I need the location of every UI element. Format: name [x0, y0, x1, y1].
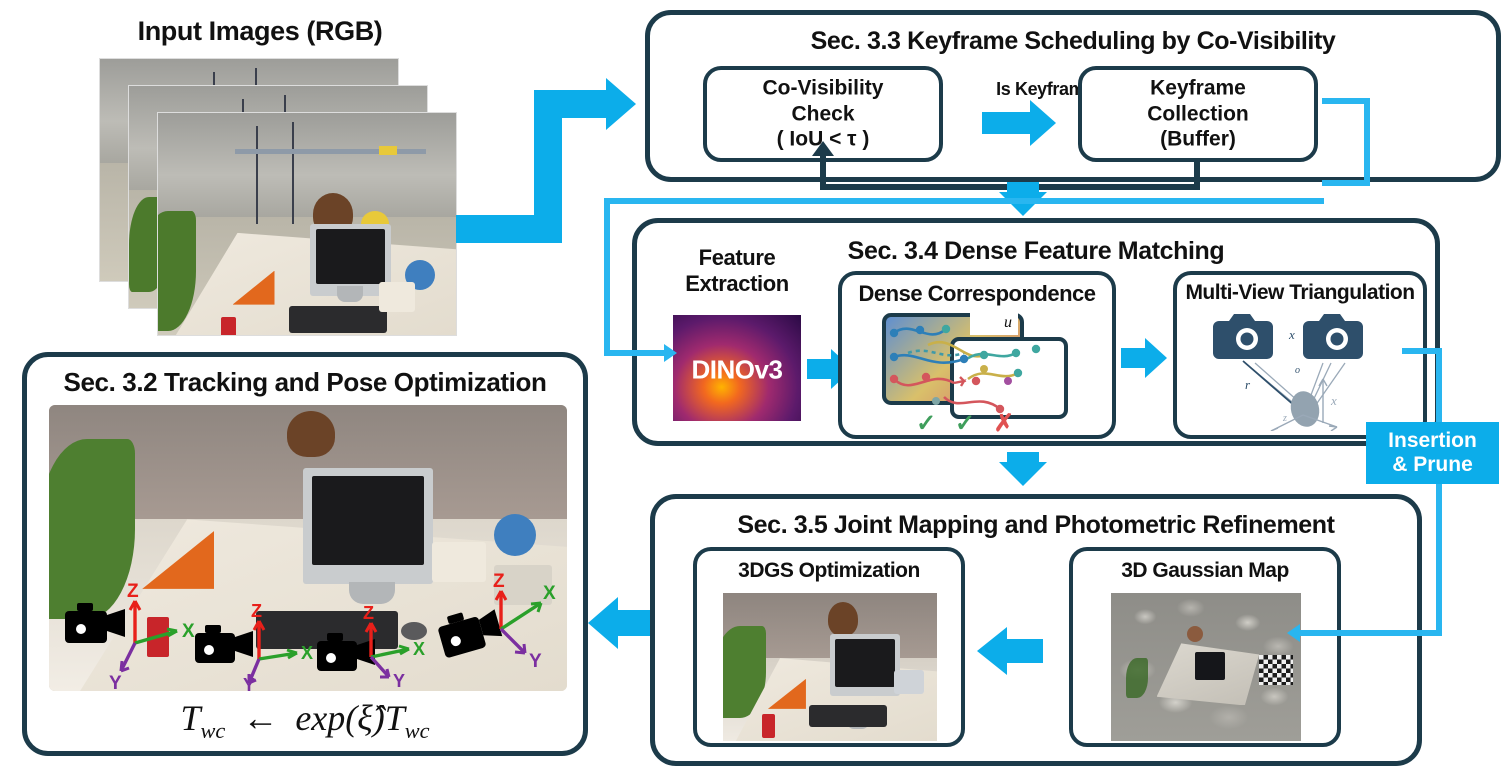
- triangulation-title: Multi-View Triangulation: [1177, 281, 1423, 305]
- tri-symbol-x1: x: [1288, 327, 1295, 342]
- camera-pose-2: Z X Y: [195, 601, 313, 691]
- dense-correspondence-title: Dense Correspondence: [842, 281, 1112, 307]
- box-multiview-triangulation[interactable]: Multi-View Triangulation: [1173, 271, 1427, 439]
- tri-symbol-r: r: [1245, 377, 1251, 392]
- svg-text:Z: Z: [493, 571, 505, 592]
- box-3dgs-optimization-title: 3DGS Optimization: [697, 559, 961, 583]
- box-3d-gaussian-map[interactable]: 3D Gaussian Map: [1069, 547, 1341, 747]
- feature-extraction-label: Feature Extraction: [647, 245, 827, 298]
- svg-text:Z: Z: [363, 603, 374, 623]
- arrow-sec33-to-sec34-stem: [1007, 182, 1039, 196]
- triangulation-illustration: x o r z x: [1199, 305, 1409, 431]
- gaussian-map-image: [1111, 593, 1301, 741]
- camera-pose-4-axes: Z X Y: [493, 571, 556, 672]
- svg-text:Y: Y: [529, 651, 542, 672]
- box-keyframe-collection[interactable]: Keyframe Collection (Buffer): [1078, 66, 1318, 162]
- box-dense-correspondence[interactable]: Dense Correspondence u: [838, 271, 1116, 439]
- svg-text:X: X: [182, 621, 195, 642]
- svg-text:Z: Z: [251, 601, 262, 621]
- dense-match-marks: ✓ ✓ ✗: [908, 409, 1028, 438]
- tri-symbol-x2: x: [1330, 393, 1337, 408]
- formula-arrow: ←: [234, 698, 286, 738]
- formula-close: ): [373, 698, 385, 738]
- match-check-1: ✓: [916, 410, 942, 437]
- svg-text:Y: Y: [109, 673, 122, 691]
- formula-rhs-sub: wc: [405, 718, 430, 743]
- formula-lhs-sub: wc: [201, 718, 226, 743]
- box-3dgs-optimization[interactable]: 3DGS Optimization: [693, 547, 965, 747]
- tracking-render-image: Z X Y Z X Y: [49, 405, 567, 691]
- sec33-title: Sec. 3.3 Keyframe Scheduling by Co-Visib…: [650, 27, 1496, 56]
- formula-xi: ξ̂: [357, 698, 372, 738]
- input-image-frame-front: [157, 112, 457, 336]
- camera-pose-1: Z X Y: [65, 581, 195, 691]
- input-images-title: Input Images (RGB): [60, 16, 460, 47]
- tri-symbol-z: z: [1282, 413, 1287, 424]
- arrow-sec34-to-sec35-stem: [1007, 452, 1039, 466]
- tri-symbol-o: o: [1295, 365, 1300, 376]
- box-keyframe-collection-label: Keyframe Collection (Buffer): [1082, 76, 1314, 153]
- svg-text:X: X: [301, 643, 313, 663]
- diagram-canvas: Input Images (RGB): [0, 0, 1507, 784]
- panel-sec-3-3: Sec. 3.3 Keyframe Scheduling by Co-Visib…: [645, 10, 1501, 182]
- svg-text:Y: Y: [393, 671, 405, 691]
- sec32-title: Sec. 3.2 Tracking and Pose Optimization: [27, 367, 583, 398]
- match-cross-1: ✗: [994, 410, 1020, 437]
- formula-rhs: T: [385, 698, 405, 738]
- match-check-2: ✓: [955, 410, 981, 437]
- svg-text:Z: Z: [127, 581, 139, 602]
- svg-text:X: X: [543, 583, 556, 604]
- 3dgs-render-image: [723, 593, 937, 741]
- sec35-title: Sec. 3.5 Joint Mapping and Photometric R…: [655, 511, 1417, 540]
- formula-exp: exp(: [295, 698, 357, 738]
- formula-lhs: T: [180, 698, 200, 738]
- panel-sec-3-2: Sec. 3.2 Tracking and Pose Optimization: [22, 352, 588, 756]
- dinov3-label: DINOv3: [673, 355, 801, 386]
- dinov3-feature-map: DINOv3: [673, 315, 801, 421]
- camera-pose-3: Z X Y: [317, 603, 425, 691]
- insertion-and-prune-badge[interactable]: Insertion & Prune: [1366, 422, 1499, 484]
- svg-text:Y: Y: [243, 675, 255, 691]
- box-3d-gaussian-map-title: 3D Gaussian Map: [1073, 559, 1337, 583]
- svg-text:X: X: [413, 639, 425, 659]
- panel-sec-3-4: Sec. 3.4 Dense Feature Matching Feature …: [632, 218, 1440, 446]
- pose-update-formula: Twc ← exp(ξ̂)Twc: [27, 697, 583, 744]
- camera-trajectory-overlay: Z X Y Z X Y: [49, 405, 567, 691]
- camera-pose-4: [435, 603, 504, 658]
